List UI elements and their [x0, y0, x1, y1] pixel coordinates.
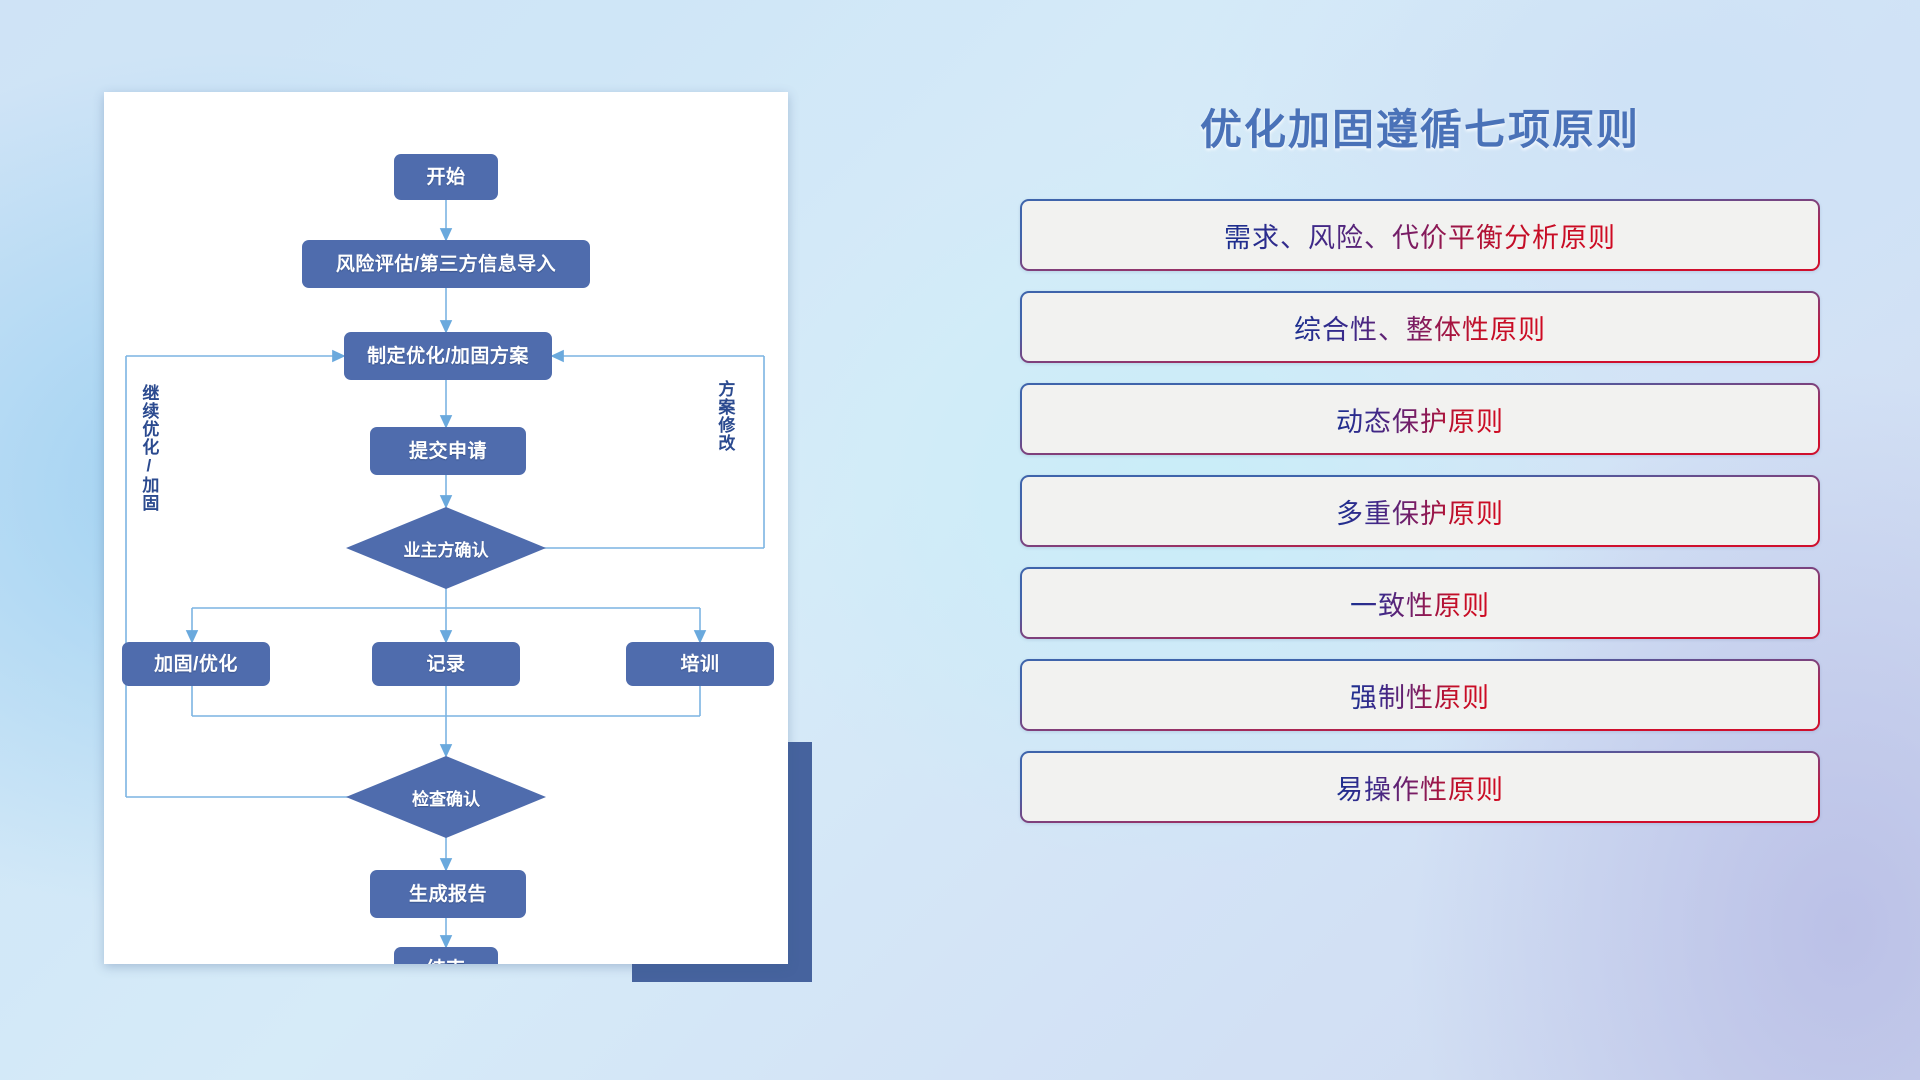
principle-label: 需求、风险、代价平衡分析原则: [1224, 216, 1616, 255]
principles-list: 需求、风险、代价平衡分析原则 综合性、整体性原则 动态保护原则 多重保护原则 一…: [1020, 199, 1820, 823]
flowchart-card: 开始 风险评估/第三方信息导入 制定优化/加固方案 提交申请 业主方确认 加固/…: [104, 92, 788, 964]
flow-node-submit-application[interactable]: 提交申请: [370, 427, 526, 475]
principle-label: 综合性、整体性原则: [1294, 308, 1546, 347]
flow-edge-label-right-loop: 方案修改: [716, 380, 733, 520]
principle-card-5[interactable]: 一致性原则: [1020, 567, 1820, 639]
principle-label: 一致性原则: [1350, 584, 1490, 623]
principle-card-7[interactable]: 易操作性原则: [1020, 751, 1820, 823]
principles-panel: 优化加固遵循七项原则 需求、风险、代价平衡分析原则 综合性、整体性原则 动态保护…: [1020, 96, 1820, 1016]
principle-card-2[interactable]: 综合性、整体性原则: [1020, 291, 1820, 363]
flow-node-generate-report[interactable]: 生成报告: [370, 870, 526, 918]
principle-card-6[interactable]: 强制性原则: [1020, 659, 1820, 731]
principle-label: 易操作性原则: [1336, 768, 1504, 807]
flow-edge-label-left-loop: 继续优化/加固: [140, 384, 157, 574]
slide-canvas: 开始 风险评估/第三方信息导入 制定优化/加固方案 提交申请 业主方确认 加固/…: [0, 0, 1920, 1080]
page-title: 优化加固遵循七项原则: [1020, 96, 1820, 157]
flow-node-risk-assessment[interactable]: 风险评估/第三方信息导入: [302, 240, 590, 288]
flow-node-start[interactable]: 开始: [394, 154, 498, 200]
flow-node-plan[interactable]: 制定优化/加固方案: [344, 332, 552, 380]
principle-card-4[interactable]: 多重保护原则: [1020, 475, 1820, 547]
principle-card-1[interactable]: 需求、风险、代价平衡分析原则: [1020, 199, 1820, 271]
principle-label: 多重保护原则: [1336, 492, 1504, 531]
principle-label: 动态保护原则: [1336, 400, 1504, 439]
flow-node-training[interactable]: 培训: [626, 642, 774, 686]
flow-node-end[interactable]: 结束: [394, 947, 498, 964]
flow-node-reinforce[interactable]: 加固/优化: [122, 642, 270, 686]
principle-label: 强制性原则: [1350, 676, 1490, 715]
flow-node-record[interactable]: 记录: [372, 642, 520, 686]
principle-card-3[interactable]: 动态保护原则: [1020, 383, 1820, 455]
